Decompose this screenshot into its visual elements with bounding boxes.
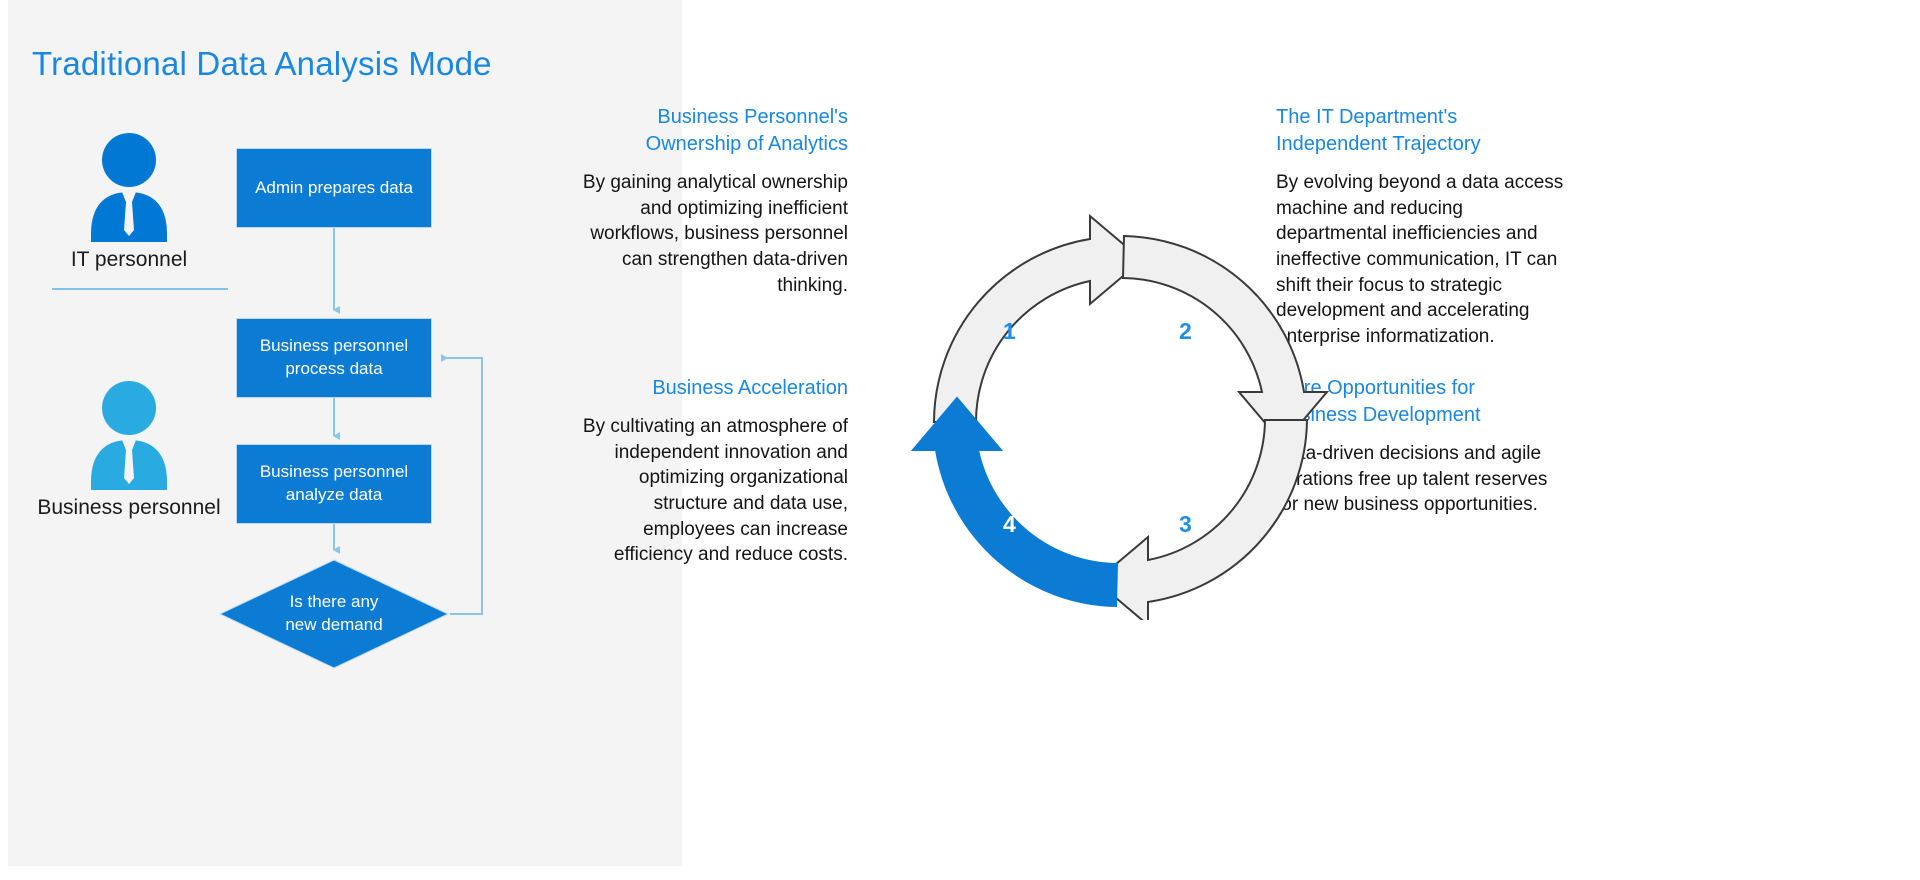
quadrant-body: By cultivating an atmosphere of independ… xyxy=(560,414,848,568)
cycle-arrows xyxy=(880,120,1360,620)
flow-node-label-line2: analyze data xyxy=(286,485,382,504)
page-title: Traditional Data Analysis Mode xyxy=(32,45,492,83)
quadrant-title-line1: Business Personnel's xyxy=(657,106,848,128)
quadrant-business-acceleration: Business Acceleration By cultivating an … xyxy=(560,375,848,568)
person-tie-icon xyxy=(79,378,179,490)
cycle-number-3: 3 xyxy=(1179,511,1192,538)
flow-node-label: Admin prepares data xyxy=(255,177,413,200)
quadrant-title: Business Acceleration xyxy=(560,375,848,402)
quadrant-title-line1: Business Acceleration xyxy=(652,377,848,399)
flow-node-is-there-any-new-demand[interactable]: Is there any new demand xyxy=(218,558,450,670)
flow-node-business-process-data[interactable]: Business personnel process data xyxy=(236,318,432,398)
quadrant-body: By gaining analytical ownership and opti… xyxy=(560,170,848,298)
person-tie-icon xyxy=(79,130,179,242)
diamond-shape xyxy=(218,558,450,670)
cycle-segment-4-highlighted[interactable] xyxy=(913,398,1117,606)
quadrant-business-personnel-ownership: Business Personnel's Ownership of Analyt… xyxy=(560,104,848,298)
flow-node-label: Business personnel process data xyxy=(260,335,408,381)
traditional-flowchart: Admin prepares data Business personnel p… xyxy=(208,130,508,660)
flow-node-business-analyze-data[interactable]: Business personnel analyze data xyxy=(236,444,432,524)
quadrant-title: Business Personnel's Ownership of Analyt… xyxy=(560,104,848,158)
cycle-number-4: 4 xyxy=(1003,511,1016,538)
four-step-cycle-diagram: 1 2 3 4 xyxy=(880,120,1360,620)
cycle-number-2: 2 xyxy=(1179,318,1192,345)
persona-divider xyxy=(52,288,228,290)
cycle-segment-1[interactable] xyxy=(934,216,1142,422)
flow-node-admin-prepares-data[interactable]: Admin prepares data xyxy=(236,148,432,228)
flow-node-label-line1: Business personnel xyxy=(260,336,408,355)
quadrant-title-line2: Ownership of Analytics xyxy=(646,133,848,155)
cycle-segment-3[interactable] xyxy=(1096,420,1307,620)
flow-node-label-line2: process data xyxy=(285,359,382,378)
flow-node-label-line1: Business personnel xyxy=(260,462,408,481)
cycle-number-1: 1 xyxy=(1003,318,1016,345)
flow-node-label: Business personnel analyze data xyxy=(260,461,408,507)
cycle-segment-2[interactable] xyxy=(1123,236,1327,444)
